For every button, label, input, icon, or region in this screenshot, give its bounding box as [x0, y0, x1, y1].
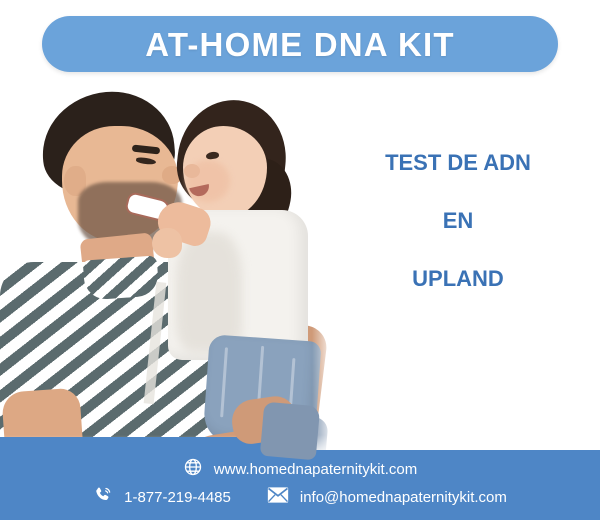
- child-nose: [184, 164, 200, 178]
- poster-canvas: AT-HOME DNA KIT: [0, 0, 600, 520]
- child-leg-overlap: [260, 402, 320, 461]
- website-label: www.homednapaternitykit.com: [214, 461, 417, 478]
- headline-line-3: UPLAND: [330, 268, 586, 290]
- email-label: info@homednapaternitykit.com: [300, 489, 507, 506]
- phone-icon: [93, 485, 113, 509]
- footer-row-phone-email: 1-877-219-4485 info@homednapaternitykit.…: [0, 483, 600, 511]
- jeans-seam: [220, 347, 228, 417]
- phone-label: 1-877-219-4485: [124, 489, 231, 506]
- website-contact[interactable]: www.homednapaternitykit.com: [183, 457, 417, 481]
- footer-row-website: www.homednapaternitykit.com: [0, 455, 600, 483]
- page-title: AT-HOME DNA KIT: [145, 28, 454, 61]
- phone-contact[interactable]: 1-877-219-4485: [93, 485, 231, 509]
- child-hand: [152, 228, 182, 258]
- child-shirt-shadow: [176, 232, 242, 352]
- header-banner: AT-HOME DNA KIT: [42, 16, 558, 72]
- headline-line-2: EN: [330, 210, 586, 232]
- headline-block: TEST DE ADN EN UPLAND: [330, 152, 586, 290]
- headline-line-1: TEST DE ADN: [330, 152, 586, 174]
- email-contact[interactable]: info@homednapaternitykit.com: [267, 486, 507, 508]
- footer-contact-rows: www.homednapaternitykit.com 1-877-219-44…: [0, 455, 600, 511]
- envelope-icon: [267, 486, 289, 508]
- globe-icon: [183, 457, 203, 481]
